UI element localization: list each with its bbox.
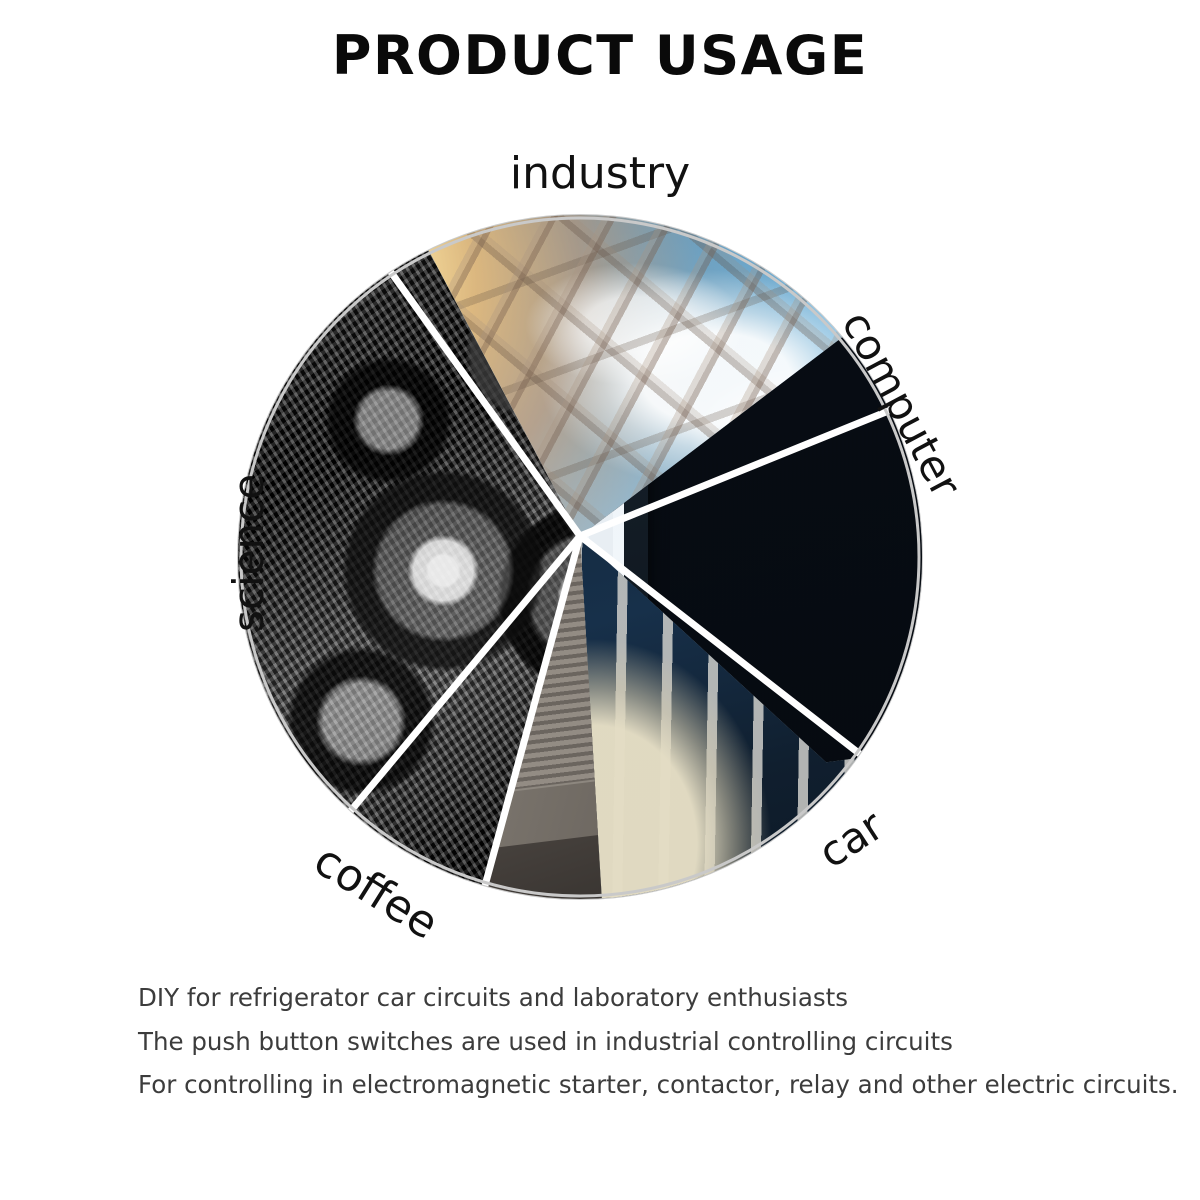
pie-label-industry: industry bbox=[510, 152, 690, 196]
product-usage-wheel bbox=[238, 215, 922, 899]
page-title: PRODUCT USAGE bbox=[0, 26, 1200, 85]
pie-chart bbox=[238, 215, 922, 899]
description-line-1: DIY for refrigerator car circuits and la… bbox=[138, 978, 1158, 1018]
pie-label-science: science bbox=[228, 474, 270, 632]
description-block: DIY for refrigerator car circuits and la… bbox=[138, 978, 1158, 1109]
description-line-3: For controlling in electromagnetic start… bbox=[138, 1065, 1158, 1105]
description-line-2: The push button switches are used in ind… bbox=[138, 1022, 1158, 1062]
